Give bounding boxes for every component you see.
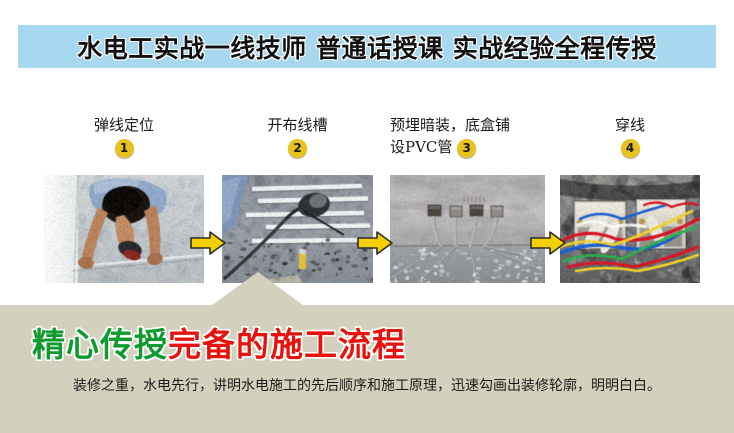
step-3-text-line-1: 预埋暗装，底盒铺 <box>390 114 545 136</box>
headline-part-red: 完备的施工流程 <box>168 325 406 364</box>
step-4-text-line-1: 穿线 <box>560 114 700 136</box>
callout-notch <box>212 272 303 305</box>
steps-label-row: 弹线定位 1 开布线槽 2 预埋暗装，底盒铺 设PVC管 3 穿线 4 <box>0 100 734 170</box>
step-1-badge: 1 <box>115 139 134 158</box>
arrow-right-icon-2 <box>357 230 393 256</box>
step-photo-3-canvas <box>390 175 545 283</box>
step-photo-4-canvas <box>560 175 700 283</box>
step-label-2: 开布线槽 2 <box>222 114 373 158</box>
lower-headline: 精心传授完备的施工流程 <box>0 318 734 366</box>
step-2-badge: 2 <box>288 139 307 158</box>
step-label-1: 弹线定位 1 <box>44 114 204 158</box>
step-photo-1 <box>44 175 204 283</box>
arrow-right-icon-1 <box>190 230 226 256</box>
step-2-text-line-1: 开布线槽 <box>222 114 373 136</box>
step-photo-1-canvas <box>44 175 204 283</box>
step-photo-4 <box>560 175 700 283</box>
step-photo-2 <box>222 175 373 283</box>
headline-part-green: 精心传授 <box>32 325 168 364</box>
step-photo-2-canvas <box>222 175 373 283</box>
step-1-text-line-1: 弹线定位 <box>44 114 204 136</box>
step-label-3: 预埋暗装，底盒铺 设PVC管 3 <box>390 114 545 158</box>
poster-root: 水电工实战一线技师 普通话授课 实战经验全程传授 弹线定位 1 开布线槽 2 预… <box>0 0 734 433</box>
arrow-right-icon-3 <box>530 230 566 256</box>
step-4-badge: 4 <box>621 139 640 158</box>
step-label-4: 穿线 4 <box>560 114 700 158</box>
step-3-badge: 3 <box>457 139 476 158</box>
step-3-text-line-2: 设PVC管 <box>390 138 452 156</box>
header-banner: 水电工实战一线技师 普通话授课 实战经验全程传授 <box>18 25 716 68</box>
lower-subtext: 装修之重，水电先行，讲明水电施工的先后顺序和施工原理，迅速勾画出装修轮廓，明明白… <box>0 375 734 395</box>
header-title: 水电工实战一线技师 普通话授课 实战经验全程传授 <box>77 29 656 65</box>
step-photo-3 <box>390 175 545 283</box>
